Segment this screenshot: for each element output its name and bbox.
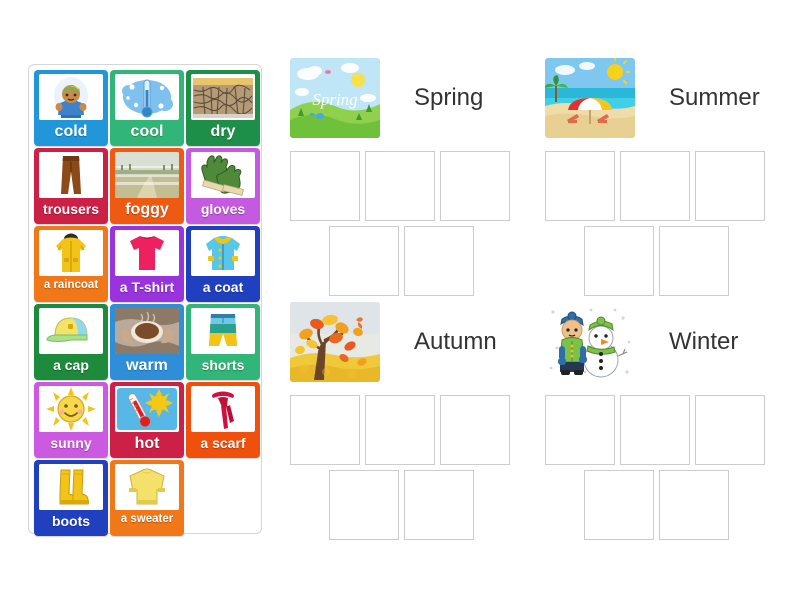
category-title-autumn: Autumn <box>414 328 497 356</box>
thermometer-snowflakes-icon <box>115 74 179 120</box>
draggable-tile-cool[interactable]: cool <box>110 70 184 146</box>
dropzone-summer-5[interactable] <box>659 226 729 296</box>
draggable-tile-a-coat[interactable]: a coat <box>186 226 260 302</box>
draggable-tile-sunny[interactable]: sunny <box>34 382 108 458</box>
dropzone-winter-5[interactable] <box>659 470 729 540</box>
tile-label: shorts <box>202 358 245 372</box>
dropzone-group-summer <box>545 151 765 296</box>
svg-text:Spring: Spring <box>312 90 357 109</box>
category-title-spring: Spring <box>414 84 483 112</box>
dropzone-winter-3[interactable] <box>695 395 765 465</box>
draggable-items-panel: cold cool dry trousers <box>28 64 262 534</box>
dropzone-row <box>545 151 765 221</box>
activity-canvas: cold cool dry trousers <box>0 0 800 600</box>
category-summer: Summer <box>545 58 765 296</box>
tile-label: cool <box>131 124 164 140</box>
red-scarf-icon <box>191 386 255 432</box>
dropzone-row <box>329 226 510 296</box>
yellow-sweater-icon <box>115 464 179 510</box>
tile-label: warm <box>126 358 168 374</box>
category-header-winter: Winter <box>545 302 765 382</box>
dropzone-autumn-2[interactable] <box>365 395 435 465</box>
blue-coat-icon <box>191 230 255 276</box>
empty-grid-slot <box>186 460 260 536</box>
tile-label: a coat <box>203 280 243 294</box>
category-title-winter: Winter <box>669 328 738 356</box>
dropzone-row <box>584 470 765 540</box>
dropzone-row <box>329 470 510 540</box>
category-spring: Spring Spring <box>290 58 510 296</box>
category-header-spring: Spring Spring <box>290 58 510 138</box>
dropzone-winter-4[interactable] <box>584 470 654 540</box>
tile-label: gloves <box>201 202 245 216</box>
spring-meadow-thumbnail: Spring <box>290 58 380 138</box>
category-header-autumn: Autumn <box>290 302 510 382</box>
dropzone-spring-2[interactable] <box>365 151 435 221</box>
child-in-winter-coat-icon <box>39 74 103 120</box>
tile-label: sunny <box>50 436 91 450</box>
category-winter: Winter <box>545 302 765 540</box>
draggable-tile-dry[interactable]: dry <box>186 70 260 146</box>
tile-label: a sweater <box>121 514 173 526</box>
dropzone-spring-1[interactable] <box>290 151 360 221</box>
tile-label: boots <box>52 514 90 528</box>
tile-label: a raincoat <box>44 280 98 292</box>
yellow-raincoat-icon <box>39 230 103 276</box>
tile-label: a cap <box>53 358 89 372</box>
draggable-tile-shorts[interactable]: shorts <box>186 304 260 380</box>
tile-label: cold <box>55 124 88 140</box>
dropzone-group-winter <box>545 395 765 540</box>
draggable-tile-foggy[interactable]: foggy <box>110 148 184 224</box>
dropzone-winter-2[interactable] <box>620 395 690 465</box>
draggable-tile-trousers[interactable]: trousers <box>34 148 108 224</box>
draggable-tile-a-cap[interactable]: a cap <box>34 304 108 380</box>
draggable-tile-hot[interactable]: hot <box>110 382 184 458</box>
draggable-tile-boots[interactable]: boots <box>34 460 108 536</box>
foggy-landscape-icon <box>115 152 179 198</box>
hands-holding-cup-icon <box>115 308 179 354</box>
brown-trousers-icon <box>39 152 103 198</box>
dropzone-spring-4[interactable] <box>329 226 399 296</box>
dropzone-summer-2[interactable] <box>620 151 690 221</box>
tile-grid: cold cool dry trousers <box>34 70 261 536</box>
dropzone-autumn-3[interactable] <box>440 395 510 465</box>
draggable-tile-warm[interactable]: warm <box>110 304 184 380</box>
summer-beach-thumbnail <box>545 58 635 138</box>
draggable-tile-a-raincoat[interactable]: a raincoat <box>34 226 108 302</box>
dropzone-group-autumn <box>290 395 510 540</box>
dropzone-row <box>584 226 765 296</box>
winter-snowman-thumbnail <box>545 302 635 382</box>
dropzone-summer-1[interactable] <box>545 151 615 221</box>
dropzone-summer-4[interactable] <box>584 226 654 296</box>
category-header-summer: Summer <box>545 58 765 138</box>
category-autumn: Autumn <box>290 302 510 540</box>
autumn-tree-thumbnail <box>290 302 380 382</box>
dry-cracked-earth-icon <box>191 74 255 120</box>
draggable-tile-a-scarf[interactable]: a scarf <box>186 382 260 458</box>
dropzone-row <box>545 395 765 465</box>
dropzone-group-spring <box>290 151 510 296</box>
dropzone-row <box>290 151 510 221</box>
green-gloves-icon <box>191 152 255 198</box>
dropzone-autumn-4[interactable] <box>329 470 399 540</box>
pink-tshirt-icon <box>115 230 179 276</box>
tile-label: dry <box>211 124 236 140</box>
dropzone-summer-3[interactable] <box>695 151 765 221</box>
yellow-cap-icon <box>39 308 103 354</box>
draggable-tile-a-sweater[interactable]: a sweater <box>110 460 184 536</box>
draggable-tile-a-t-shirt[interactable]: a T-shirt <box>110 226 184 302</box>
draggable-tile-gloves[interactable]: gloves <box>186 148 260 224</box>
dropzone-autumn-5[interactable] <box>404 470 474 540</box>
dropzone-row <box>290 395 510 465</box>
dropzone-winter-1[interactable] <box>545 395 615 465</box>
tile-label: trousers <box>43 202 99 216</box>
draggable-tile-cold[interactable]: cold <box>34 70 108 146</box>
dropzone-spring-5[interactable] <box>404 226 474 296</box>
dropzone-spring-3[interactable] <box>440 151 510 221</box>
tile-label: a scarf <box>200 436 245 450</box>
striped-shorts-icon <box>191 308 255 354</box>
smiling-sun-icon <box>39 386 103 432</box>
dropzone-autumn-1[interactable] <box>290 395 360 465</box>
tile-label: foggy <box>125 202 169 218</box>
tile-label: hot <box>135 436 160 452</box>
yellow-rain-boots-icon <box>39 464 103 510</box>
category-title-summer: Summer <box>669 84 760 112</box>
thermometer-sun-icon <box>115 386 179 432</box>
tile-label: a T-shirt <box>120 280 174 294</box>
